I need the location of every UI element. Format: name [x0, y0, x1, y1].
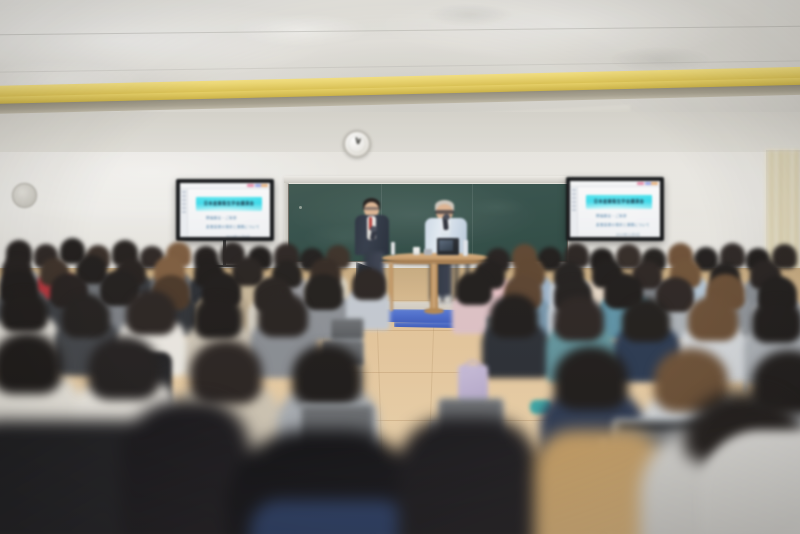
microphone-head [443, 214, 450, 220]
projection-screen-left: 日本産業衛生学会講演会 開催趣旨・ご挨拶 産業保健の現状と課題について 2019… [176, 179, 274, 241]
slide-title: 日本産業衛生学会講演会 [594, 199, 644, 206]
slide-title-banner: 日本産業衛生学会講演会 [586, 195, 652, 209]
panel-table-pedestal [430, 263, 438, 311]
audience-head [688, 296, 738, 341]
audience-head [622, 298, 670, 342]
slide-thumbnail-rail [180, 189, 188, 237]
slide-bullet-2: 産業保健の現状と課題について [206, 225, 260, 230]
audience-head [88, 336, 160, 400]
foreground-person-shirt-blue [250, 500, 410, 534]
slide-toolbar [180, 183, 270, 189]
chalkboard-seam [472, 184, 473, 261]
projection-screen-right: 日本産業衛生学会講演会 開催趣旨・ご挨拶 産業保健の現状と課題について 2019… [566, 177, 664, 241]
foreground-hair-dark [398, 418, 538, 534]
paper-cup [413, 247, 420, 255]
audience-head [554, 296, 604, 341]
audience-head [258, 292, 308, 337]
audience-head [752, 298, 800, 343]
audience-head [554, 346, 628, 410]
audience-head [456, 272, 492, 305]
slide-footer: 2019年11月9日 [226, 234, 250, 237]
toolbar-pill [261, 184, 268, 187]
wall-clock [343, 130, 371, 158]
chalkboard-mark [299, 206, 302, 209]
water-bottle [391, 242, 395, 255]
audience-head [194, 295, 242, 339]
clock-tick-marks [348, 135, 366, 153]
slide-bullet-1: 開催趣旨・ご挨拶 [206, 216, 237, 221]
audience-head [352, 268, 386, 300]
slide-title-banner: 日本産業衛生学会講演会 [196, 197, 262, 211]
plastic-bottle [463, 240, 468, 256]
slide-thumbnail-rail [570, 187, 578, 237]
lecture-hall-photograph: 日本産業衛生学会講演会 開催趣旨・ご挨拶 産業保健の現状と課題について 2019… [0, 0, 800, 534]
slide-left: 日本産業衛生学会講演会 開催趣旨・ご挨拶 産業保健の現状と課題について 2019… [180, 183, 270, 237]
slide-right: 日本産業衛生学会講演会 開催趣旨・ご挨拶 産業保健の現状と課題について 2019… [570, 181, 660, 237]
audience-head [0, 290, 48, 332]
chair-backrest [330, 318, 364, 340]
audience-head [304, 274, 343, 310]
audience-head [62, 294, 110, 338]
panel-table-foot [424, 308, 444, 314]
slide-title: 日本産業衛生学会講演会 [204, 201, 254, 208]
chalk-tray [284, 176, 572, 183]
microphone-head [370, 226, 377, 232]
slide-footer: 2019年11月9日 [616, 232, 640, 237]
yellow-service-beam [0, 86, 800, 126]
audience-head [190, 340, 262, 404]
toolbar-pill [247, 184, 254, 187]
slide-bullet-2: 産業保健の現状と課題について [596, 223, 650, 228]
eyeglasses-icon [364, 207, 379, 210]
audience-head [126, 290, 176, 335]
toolbar-pill [651, 182, 658, 185]
wall-speaker [12, 183, 37, 208]
slide-bullet-1: 開催趣旨・ご挨拶 [596, 214, 627, 219]
microphone-stand [424, 249, 432, 255]
audience-head [490, 294, 538, 338]
speaker-moderator-left [352, 198, 392, 258]
toolbar-pill [637, 182, 644, 185]
slide-toolbar [570, 181, 660, 187]
laptop-screen [439, 240, 453, 251]
audience-head [292, 344, 362, 406]
audience-head [0, 332, 62, 394]
